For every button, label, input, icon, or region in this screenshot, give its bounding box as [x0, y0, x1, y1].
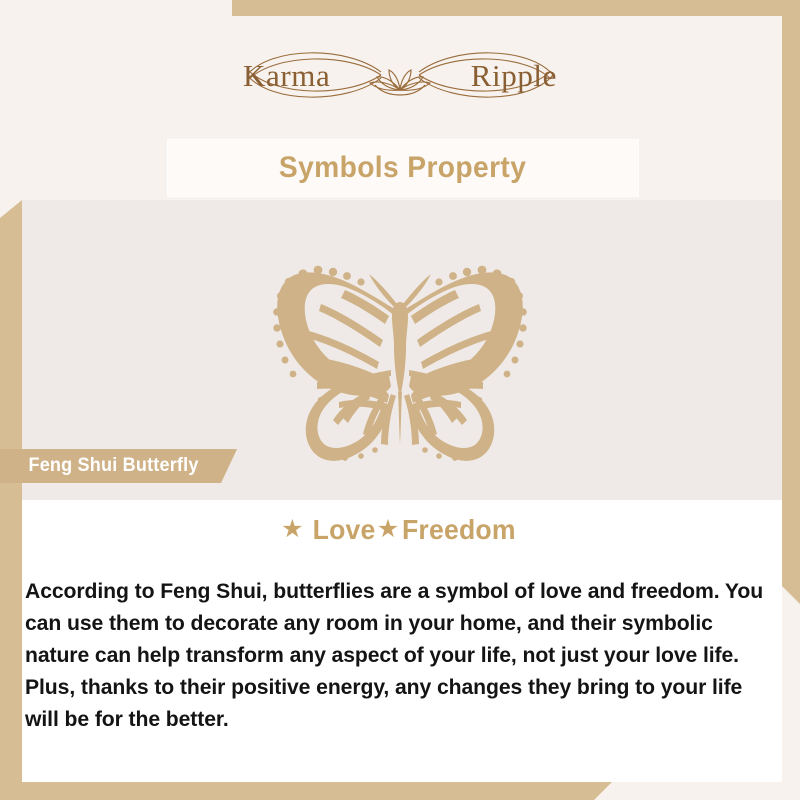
product-info-poster: Karma Ripple Symbols Property	[0, 0, 800, 800]
section-title-band: Symbols Property	[168, 140, 638, 196]
butterfly-icon	[225, 242, 575, 462]
page-title: Symbols Property	[279, 151, 526, 185]
butterfly-artwork	[0, 238, 800, 466]
keyword-row: ★ Love ★ Freedom	[0, 512, 800, 548]
brand-word-left: Karma	[243, 58, 330, 93]
keyword-freedom: Freedom	[402, 514, 516, 546]
frame-band-bottom	[0, 782, 612, 800]
product-name-tag: Feng Shui Butterfly	[0, 449, 237, 483]
keyword-love: Love	[312, 514, 375, 546]
brand-logo-graphic: Karma Ripple	[235, 40, 565, 110]
star-icon: ★	[377, 517, 399, 542]
brand-word-right: Ripple	[471, 58, 557, 93]
star-icon: ★	[281, 517, 303, 542]
description-text: According to Feng Shui, butterflies are …	[25, 575, 776, 735]
frame-band-top	[232, 0, 800, 16]
product-name-label: Feng Shui Butterfly	[28, 455, 198, 477]
brand-logo: Karma Ripple	[0, 38, 800, 112]
